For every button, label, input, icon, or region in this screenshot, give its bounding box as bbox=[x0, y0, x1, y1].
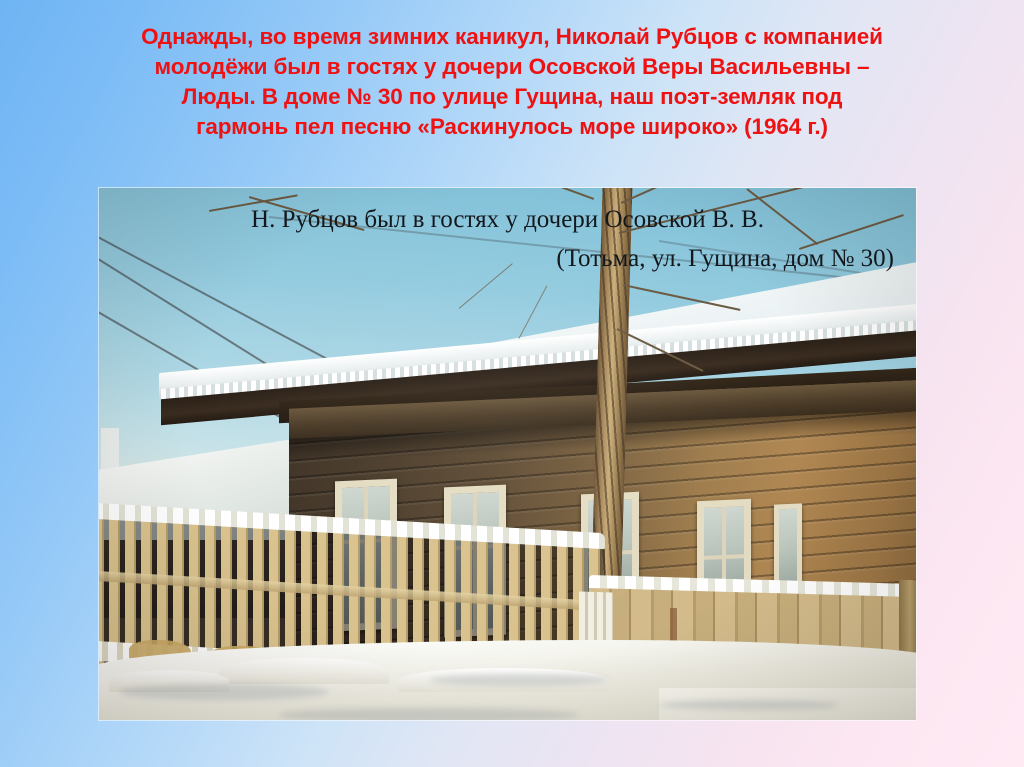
snow-shadow bbox=[659, 700, 839, 710]
photo-caption: Н. Рубцов был в гостях у дочери Осовской… bbox=[99, 200, 916, 278]
title-line-4: гармонь пел песню «Раскинулось море широ… bbox=[24, 112, 1000, 142]
snow-drift bbox=[219, 658, 389, 684]
caption-line-2: (Тотьма, ул. Гущина, дом № 30) bbox=[117, 239, 898, 278]
title-line-3: Люды. В доме № 30 по улице Гущина, наш п… bbox=[24, 82, 1000, 112]
presentation-slide: Однажды, во время зимних каникул, Никола… bbox=[0, 0, 1024, 767]
title-line-1: Однажды, во время зимних каникул, Никола… bbox=[24, 22, 1000, 52]
slide-title: Однажды, во время зимних каникул, Никола… bbox=[0, 22, 1024, 142]
caption-line-1: Н. Рубцов был в гостях у дочери Осовской… bbox=[117, 200, 898, 239]
snow-shadow bbox=[429, 674, 609, 686]
snow-shadow bbox=[279, 708, 579, 720]
title-line-2: молодёжи был в гостях у дочери Осовской … bbox=[24, 52, 1000, 82]
photograph: 30 bbox=[99, 188, 916, 720]
snow-shadow bbox=[119, 684, 329, 700]
